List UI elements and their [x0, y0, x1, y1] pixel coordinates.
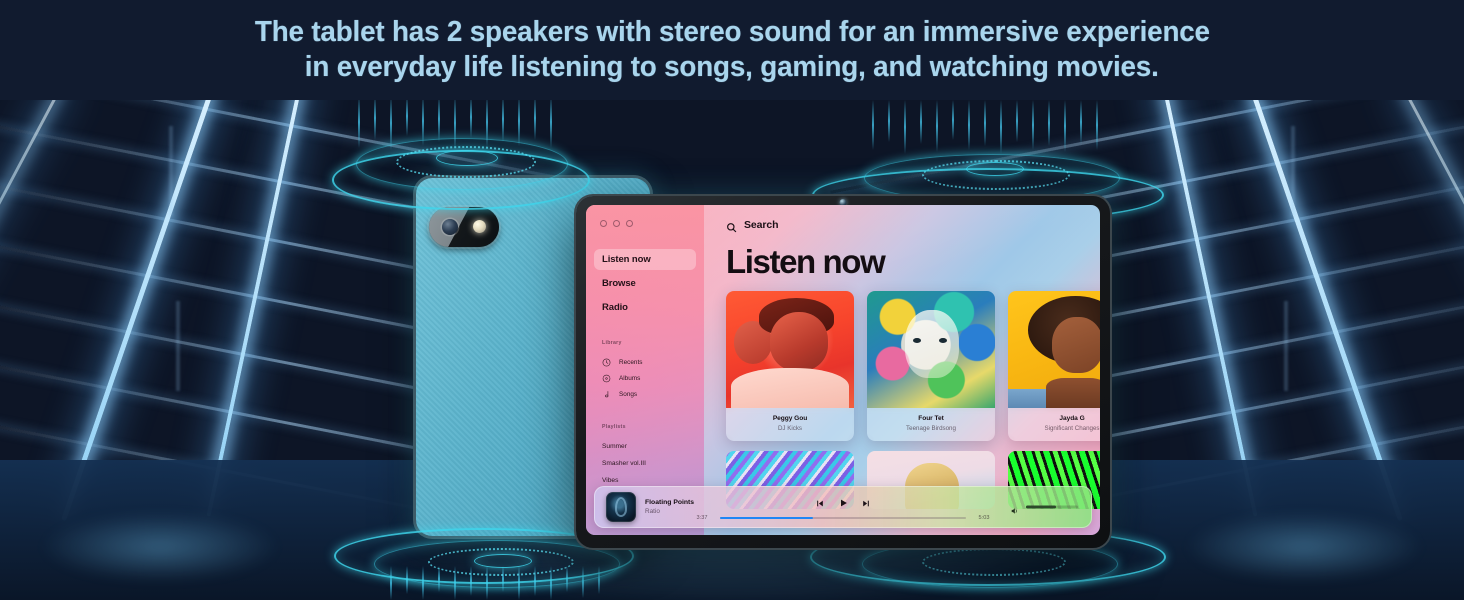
promo-banner: The tablet has 2 speakers with stereo so…: [0, 0, 1464, 100]
tablet-screen: Listen now Browse Radio Library Recents …: [586, 205, 1100, 535]
duration-time: 5:03: [975, 515, 993, 521]
sidebar-playlist-summer[interactable]: Summer: [586, 438, 704, 455]
page-title: Listen now: [726, 245, 1100, 278]
album-title: Jayda G: [1012, 415, 1100, 422]
now-playing-subtitle: Ratio: [645, 508, 694, 515]
now-playing-info: Floating Points Ratio: [645, 499, 694, 515]
progress-row: 3:37 5:03: [693, 515, 993, 521]
album-title: Peggy Gou: [730, 415, 850, 422]
album-subtitle: Teenage Birdsong: [871, 425, 991, 432]
now-playing-title: Floating Points: [645, 499, 694, 506]
progress-slider[interactable]: [720, 517, 966, 520]
album-card[interactable]: Jayda G Significant Changes: [1008, 291, 1100, 441]
sidebar-item-songs[interactable]: Songs: [586, 386, 704, 402]
tablet-front: Listen now Browse Radio Library Recents …: [576, 196, 1110, 548]
sidebar-item-albums[interactable]: Albums: [586, 370, 704, 386]
elapsed-time: 3:37: [693, 515, 711, 521]
album-title: Four Tet: [871, 415, 991, 422]
sidebar-item-recents[interactable]: Recents: [586, 354, 704, 370]
sidebar-item-radio[interactable]: Radio: [594, 297, 696, 318]
wall-panel-seam: [168, 126, 174, 216]
close-icon[interactable]: [600, 220, 607, 227]
sidebar-item-browse[interactable]: Browse: [594, 273, 696, 294]
sidebar-nav: Listen now Browse Radio: [586, 249, 704, 318]
album-card[interactable]: Four Tet Teenage Birdsong: [867, 291, 995, 441]
wall-panel-seam: [1290, 126, 1296, 216]
sound-ripple-top-left: [332, 128, 592, 214]
search-bar[interactable]: Search: [726, 219, 1100, 231]
album-artwork: [726, 291, 854, 408]
now-playing-bar: Floating Points Ratio 3:37: [594, 486, 1092, 528]
previous-track-icon[interactable]: [816, 495, 825, 504]
volume-slider[interactable]: [1026, 506, 1078, 509]
floor-glow: [40, 512, 280, 582]
transport-controls: [816, 495, 871, 504]
volume-fill: [1026, 506, 1056, 509]
album-icon: [602, 374, 611, 383]
album-artwork: [1008, 291, 1100, 408]
album-artwork: [867, 291, 995, 408]
note-icon: [602, 390, 611, 399]
minimize-icon[interactable]: [613, 220, 620, 227]
sidebar-item-label: Albums: [619, 375, 640, 382]
now-playing-artwork: [606, 492, 636, 522]
window-controls[interactable]: [586, 217, 704, 227]
screenshot-root: Listen now Browse Radio Library Recents …: [0, 0, 1464, 600]
sidebar-playlist-smasher[interactable]: Smasher vol.III: [586, 455, 704, 472]
wall-panel-seam: [1283, 301, 1289, 391]
volume-icon[interactable]: [1010, 503, 1019, 512]
sidebar-item-listen-now[interactable]: Listen now: [594, 249, 696, 270]
search-label: Search: [744, 219, 778, 231]
volume-control[interactable]: [1010, 503, 1078, 512]
sidebar-section-playlists: Playlists: [586, 424, 704, 430]
camera-lens: [442, 219, 458, 235]
search-icon: [726, 220, 737, 231]
sidebar-item-label: Recents: [619, 359, 642, 366]
sidebar-item-label: Songs: [619, 391, 637, 398]
album-subtitle: DJ Kicks: [730, 425, 850, 432]
album-subtitle: Significant Changes: [1012, 425, 1100, 432]
banner-line-2: in everyday life listening to songs, gam…: [305, 50, 1159, 85]
play-icon[interactable]: [839, 495, 848, 504]
progress-fill: [720, 517, 813, 520]
floor-glow: [1184, 512, 1424, 582]
camera-flash: [473, 220, 486, 233]
wall-panel-seam: [175, 301, 181, 391]
album-card-grid: Peggy Gou DJ Kicks Four Tet Teenage Bi: [726, 291, 1100, 441]
maximize-icon[interactable]: [626, 220, 633, 227]
album-card[interactable]: Peggy Gou DJ Kicks: [726, 291, 854, 441]
banner-line-1: The tablet has 2 speakers with stereo so…: [255, 15, 1210, 50]
next-track-icon[interactable]: [862, 495, 871, 504]
sidebar-section-library: Library: [586, 340, 704, 346]
clock-icon: [602, 358, 611, 367]
